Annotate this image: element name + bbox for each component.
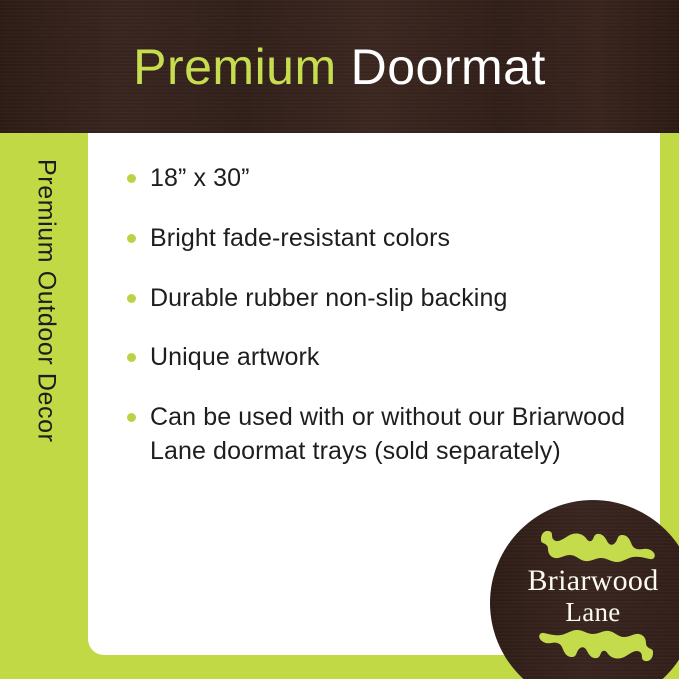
brand-name-line-1: Briarwood bbox=[490, 566, 679, 596]
list-item: Bright fade-resistant colors bbox=[126, 222, 626, 256]
list-item: Durable rubber non-slip backing bbox=[126, 282, 626, 316]
list-item-label: 18” x 30” bbox=[150, 162, 626, 196]
page-title: PremiumDoormat bbox=[0, 0, 679, 133]
bullet-dot-icon bbox=[127, 294, 136, 303]
list-item: Unique artwork bbox=[126, 341, 626, 375]
list-item: 18” x 30” bbox=[126, 162, 626, 196]
bullet-dot-icon bbox=[127, 413, 136, 422]
bullet-dot-icon bbox=[127, 353, 136, 362]
feature-list: 18” x 30” Bright fade-resistant colors D… bbox=[126, 162, 626, 469]
brand-logo-inner: Briarwood Lane bbox=[490, 500, 679, 679]
list-item-label: Bright fade-resistant colors bbox=[150, 222, 626, 256]
list-item-label: Durable rubber non-slip backing bbox=[150, 282, 626, 316]
title-word-premium: Premium bbox=[133, 38, 337, 96]
oak-leaf-icon-bottom bbox=[535, 622, 659, 666]
bullet-dot-icon bbox=[127, 234, 136, 243]
title-word-doormat: Doormat bbox=[351, 38, 546, 96]
brand-logo-badge: Briarwood Lane bbox=[490, 500, 679, 679]
list-item-label: Can be used with or without our Briarwoo… bbox=[150, 401, 626, 469]
bullet-dot-icon bbox=[127, 174, 136, 183]
list-item-label: Unique artwork bbox=[150, 341, 626, 375]
product-feature-panel: PremiumDoormat Premium Outdoor Decor 18”… bbox=[0, 0, 679, 679]
header-band: PremiumDoormat bbox=[0, 0, 679, 133]
brand-wordmark: Briarwood Lane bbox=[490, 566, 679, 630]
list-item: Can be used with or without our Briarwoo… bbox=[126, 401, 626, 469]
